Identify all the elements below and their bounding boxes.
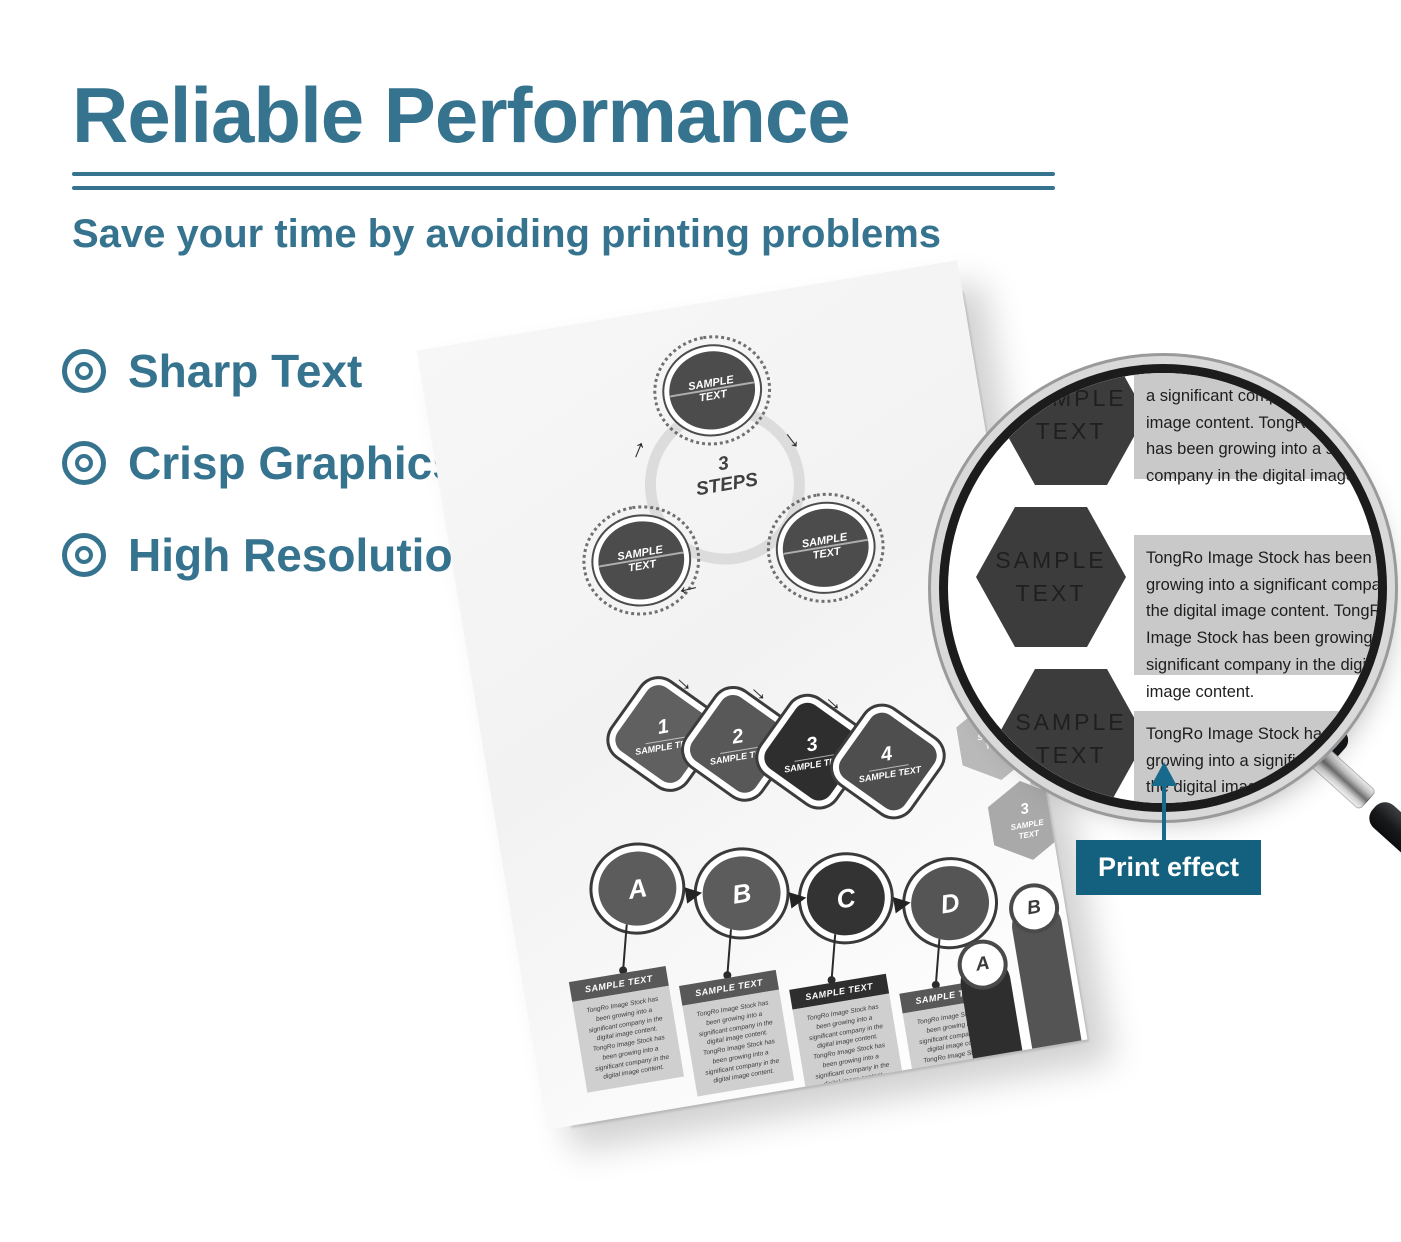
step-diamond: 4 SAMPLE TEXT (833, 707, 942, 816)
title-rule-bottom (72, 186, 1055, 190)
bar-value-label: 45% (973, 1052, 1026, 1082)
cycle-node: SAMPLE TEXT (777, 502, 875, 593)
flow-node: A (593, 846, 682, 932)
magnifier-lens: SAMPLE TEXT SAMPLE TEXT SAMPLE TEXT a si… (948, 373, 1378, 803)
callout-leader-line (1162, 781, 1166, 843)
zoomed-hexagon: SAMPLE TEXT (996, 669, 1146, 803)
zoomed-hexagon: SAMPLE TEXT (996, 373, 1146, 485)
magnifier: SAMPLE TEXT SAMPLE TEXT SAMPLE TEXT a si… (948, 373, 1392, 817)
page-subtitle: Save your time by avoiding printing prob… (72, 212, 941, 256)
zoomed-hexagon-line1: SAMPLE (1015, 706, 1126, 739)
step-number: 4 (879, 742, 894, 766)
flow-node: C (801, 855, 890, 941)
title-rule-top (72, 172, 1055, 176)
zoomed-text-block: TongRo Image Stock has been growing into… (1134, 711, 1378, 803)
zoomed-text-block: a significant company in the digital ima… (1134, 373, 1378, 479)
flow-arrow-icon: ▶ (892, 889, 911, 916)
zoomed-hexagon: SAMPLE TEXT (976, 507, 1126, 647)
cycle-node: SAMPLE TEXT (663, 345, 761, 436)
step-number: 2 (730, 725, 745, 749)
hexagon-line2: TEXT (1018, 829, 1040, 842)
feature-label: Crisp Graphics (128, 436, 458, 490)
poster-canvas: Reliable Performance Save your time by a… (0, 0, 1401, 1242)
cycle-center-line1: 3 (717, 453, 731, 475)
feature-item-crisp-graphics: Crisp Graphics (62, 417, 481, 509)
feature-label: High Resolution (128, 528, 481, 582)
caption-card-body: TongRo Image Stock has been growing into… (572, 986, 684, 1093)
feature-label: Sharp Text (128, 344, 362, 398)
double-ring-bullet-icon (62, 441, 106, 485)
flow-arrow-icon: ▶ (684, 879, 703, 906)
magnifier-handle (1364, 797, 1401, 873)
bar-chart: A 45% B 68% (948, 891, 1087, 1093)
callout-label: Print effect (1076, 840, 1261, 895)
page-title: Reliable Performance (72, 76, 850, 154)
caption-card-body: TongRo Image Stock has been growing into… (792, 993, 904, 1100)
flow-node: B (697, 851, 786, 937)
zoomed-hexagon-line1: SAMPLE (995, 544, 1106, 577)
caption-card: SAMPLE TEXT TongRo Image Stock has been … (569, 966, 684, 1093)
feature-item-sharp-text: Sharp Text (62, 325, 481, 417)
flow-arrow-icon: ▶ (788, 884, 807, 911)
feature-list: Sharp Text Crisp Graphics High Resolutio… (62, 325, 481, 601)
step-number: 3 (805, 733, 820, 757)
zoomed-hexagon-line1: SAMPLE (1015, 382, 1126, 415)
double-ring-bullet-icon (62, 349, 106, 393)
feature-item-high-resolution: High Resolution (62, 509, 481, 601)
connector-stem (622, 924, 628, 970)
bar-value-label: 68% (1033, 1042, 1086, 1072)
zoomed-hexagon-line2: TEXT (1036, 415, 1107, 448)
cycle-arrow-icon: → (673, 575, 706, 611)
zoomed-hexagon-line2: TEXT (1016, 577, 1087, 610)
zoomed-hexagon-line2: TEXT (1036, 739, 1107, 772)
caption-card-body: TongRo Image Stock has been growing into… (682, 990, 794, 1097)
zoomed-text-block: TongRo Image Stock has been growing into… (1134, 535, 1378, 675)
double-ring-bullet-icon (62, 533, 106, 577)
cycle-diagram: 3 STEPS SAMPLE TEXT SAMPLE TEXT (574, 336, 882, 627)
caption-card: SAMPLE TEXT TongRo Image Stock has been … (679, 970, 794, 1097)
step-diamond-row: 1 SAMPLE TEXT 2 SAMPLE TEXT 3 (618, 631, 1003, 810)
step-number: 1 (656, 715, 671, 739)
bar-column: A 45% (957, 954, 1028, 1090)
bar-badge: A (958, 940, 1006, 988)
